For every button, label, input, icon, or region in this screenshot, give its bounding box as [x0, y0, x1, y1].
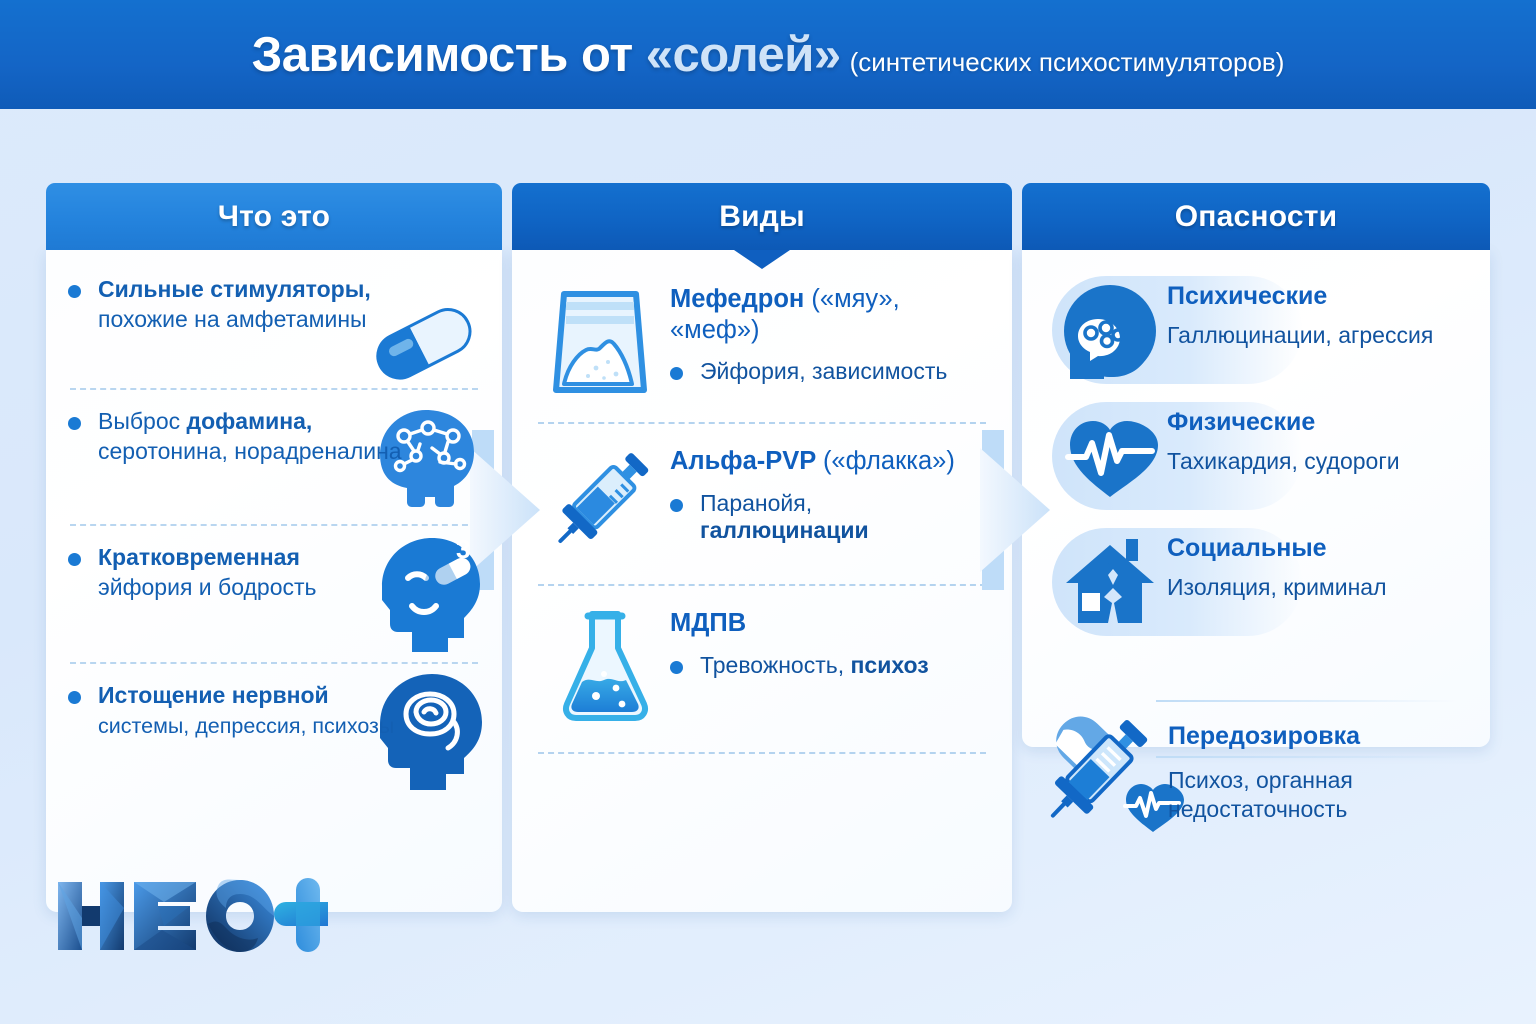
list-item: МДПВ Тревожность, психоз — [538, 608, 986, 736]
card-title-what-is-it: Что это — [218, 200, 330, 234]
card-title-dangers: Опасности — [1175, 200, 1338, 234]
list-item-text: серотонина, норадреналина — [98, 436, 480, 466]
type-name: Альфа-PVP — [670, 447, 816, 475]
card-title-types: Виды — [719, 200, 805, 234]
overdose-desc: Психоз, органная недостаточность — [1168, 766, 1353, 825]
danger-desc: Изоляция, криминал — [1167, 574, 1387, 601]
type-alias: («флакка») — [823, 447, 955, 475]
type-desc-bold: галлюцинации — [700, 517, 869, 543]
type-title: Мефедрон («мяу», «меф») — [670, 284, 986, 345]
divider — [70, 524, 478, 526]
list-item: Выброс дофамина, серотонина, норадренали… — [68, 406, 480, 516]
list-item: Социальные Изоляция, криминал — [1022, 520, 1490, 646]
type-desc-bold: психоз — [851, 652, 929, 678]
head-brain-icon — [1062, 283, 1158, 384]
page-header-bar: Зависимость от «солей» (синтетических пс… — [0, 0, 1536, 109]
list-item: Психические Галлюцинации, агрессия — [1022, 268, 1490, 394]
bullet-icon — [68, 691, 81, 704]
list-item-lead: Выброс — [98, 408, 187, 434]
type-name: Мефедрон — [670, 285, 804, 313]
list-item: Альфа-PVP («флакка») Паранойя, галлюцина… — [538, 446, 986, 574]
flask-icon — [560, 608, 652, 729]
overdose-title: Передозировка — [1168, 722, 1360, 751]
arrow-connector-1 — [470, 430, 578, 595]
list-item-text: похожие на амфетамины — [98, 304, 480, 334]
danger-title: Физические — [1167, 408, 1400, 437]
divider — [1156, 700, 1456, 702]
card-header-types: Виды — [512, 183, 1012, 250]
list-item: 3 Кратковременная эйфория и бодрость — [68, 542, 480, 654]
list-item-bold: Сильные стимуляторы, — [98, 274, 480, 304]
page-title-quoted: «солей» — [646, 27, 841, 83]
type-desc: Тревожность, психоз — [670, 652, 986, 679]
type-desc-plain: Паранойя, — [700, 490, 812, 516]
bullet-icon — [68, 417, 81, 430]
bullet-icon — [670, 499, 683, 512]
divider — [70, 662, 478, 664]
danger-desc: Галлюцинации, агрессия — [1167, 322, 1433, 349]
divider — [538, 422, 986, 424]
type-name: МДПВ — [670, 609, 746, 637]
card-header-dangers: Опасности — [1022, 183, 1490, 250]
bullet-icon — [670, 661, 683, 674]
list-item-bold-word: дофамина, — [187, 408, 313, 434]
danger-title: Психические — [1167, 282, 1433, 311]
list-item-text: системы, депрессия, психозы — [98, 710, 480, 740]
list-item: Физические Тахикардия, судороги — [1022, 394, 1490, 520]
list-item-text: эйфория и бодрость — [98, 572, 480, 602]
page-subtitle: (синтетических психостимуляторов) — [850, 47, 1285, 78]
divider — [538, 752, 986, 754]
heart-pulse-icon — [1062, 409, 1158, 510]
overdose-block: Передозировка Психоз, органная недостато… — [1022, 690, 1490, 850]
card-types: Виды Мефедрон — [512, 183, 1012, 912]
neo-plus-logo[interactable] — [48, 868, 328, 969]
divider — [538, 584, 986, 586]
powder-bag-icon — [548, 286, 652, 403]
card-what-is-it: Что это Сильные стимуляторы — [46, 183, 502, 912]
card-body-what-is-it: Сильные стимуляторы, похожие на амфетами… — [46, 250, 502, 912]
type-desc-plain: Тревожность, — [700, 652, 851, 678]
header-notch — [734, 250, 790, 269]
danger-title: Социальные — [1167, 534, 1387, 563]
bullet-icon — [68, 285, 81, 298]
type-desc: Эйфория, зависимость — [670, 358, 986, 385]
card-header-what-is-it: Что это — [46, 183, 502, 250]
divider — [70, 388, 478, 390]
card-dangers: Опасности — [1022, 183, 1490, 747]
divider — [1156, 756, 1456, 758]
overdose-desc-line1: Психоз, органная — [1168, 766, 1353, 795]
type-desc: Паранойя, галлюцинации — [670, 490, 986, 544]
type-desc-plain: Эйфория, зависимость — [700, 358, 947, 384]
list-item: Истощение нервной системы, депрессия, пс… — [68, 680, 480, 792]
bullet-icon — [68, 553, 81, 566]
type-title: Альфа-PVP («флакка») — [670, 446, 986, 477]
list-item: Сильные стимуляторы, похожие на амфетами… — [68, 274, 480, 380]
list-item-bold: Выброс дофамина, — [98, 406, 480, 436]
list-item-bold: Истощение нервной — [98, 680, 480, 710]
list-item-text-small: системы, депрессия, психозы — [98, 714, 394, 738]
type-title: МДПВ — [670, 608, 986, 639]
overdose-desc-line2: недостаточность — [1168, 795, 1353, 824]
bullet-icon — [670, 367, 683, 380]
broken-house-icon — [1062, 535, 1158, 636]
card-body-dangers: Психические Галлюцинации, агрессия Физич… — [1022, 250, 1490, 747]
list-item: Мефедрон («мяу», «меф») Эйфория, зависим… — [538, 284, 986, 412]
list-item-bold: Кратковременная — [98, 542, 480, 572]
card-body-types: Мефедрон («мяу», «меф») Эйфория, зависим… — [512, 250, 1012, 912]
danger-desc: Тахикардия, судороги — [1167, 448, 1400, 475]
page-title-main: Зависимость от — [252, 27, 633, 83]
